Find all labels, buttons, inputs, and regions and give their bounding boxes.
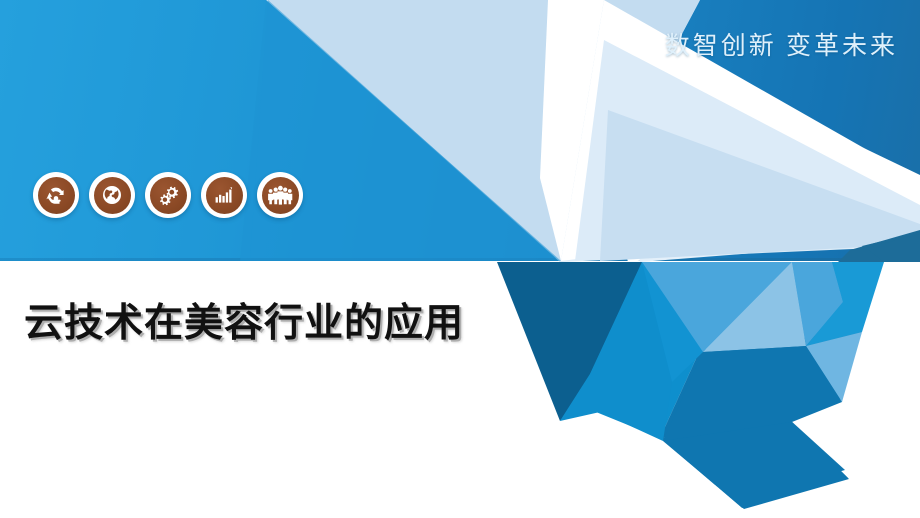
icon-inner-bar-chart (206, 177, 243, 214)
page-title: 云技术在美容行业的应用 (24, 292, 464, 348)
slide-subtitle: 数智创新 变革未来 (665, 26, 898, 62)
icon-badge-recycle[interactable] (33, 172, 79, 218)
icon-badge-bar-chart[interactable] (201, 172, 247, 218)
icon-badge-gears[interactable] (145, 172, 191, 218)
icon-badge-people-group[interactable] (257, 172, 303, 218)
people-group-icon (267, 183, 293, 207)
icon-row (33, 172, 303, 218)
globe-icon (100, 183, 124, 207)
poly2-corner-steel (866, 234, 920, 262)
bar-chart-icon (212, 183, 236, 207)
gears-icon (156, 183, 180, 207)
low-poly-lower-group (0, 0, 920, 518)
slide-canvas: 数智创新 变革未来 (0, 0, 920, 518)
icon-inner-gears (150, 177, 187, 214)
icon-inner-people-group (262, 177, 299, 214)
recycle-arrow-icon (44, 183, 68, 207)
icon-inner-globe (94, 177, 131, 214)
icon-badge-globe[interactable] (89, 172, 135, 218)
icon-inner-recycle (38, 177, 75, 214)
